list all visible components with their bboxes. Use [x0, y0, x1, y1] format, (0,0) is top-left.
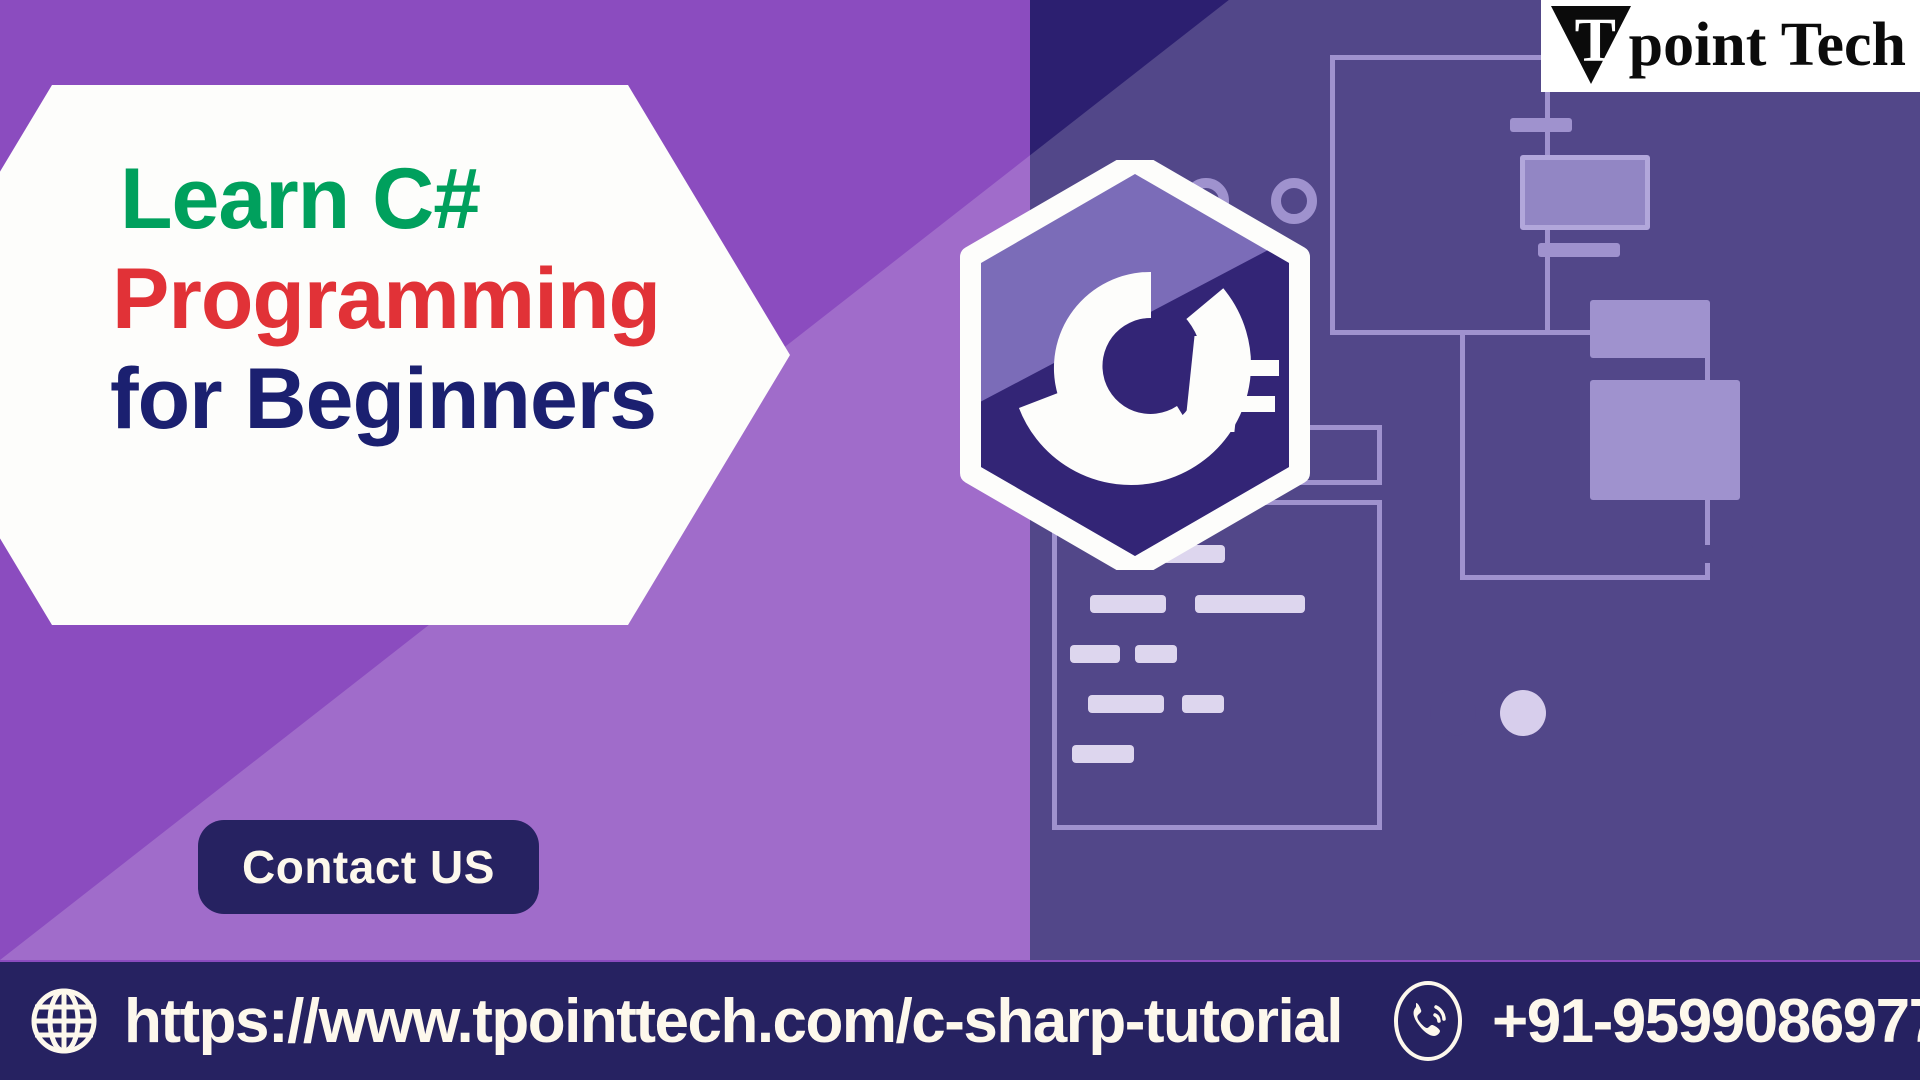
- indicator-dot-dark: [1430, 690, 1476, 736]
- contact-us-button[interactable]: Contact US: [198, 820, 539, 914]
- code-line-shape: [1195, 595, 1305, 613]
- headline-line-3: for Beginners: [110, 350, 800, 450]
- code-block-shape: [1538, 243, 1620, 257]
- code-block-shape: [1638, 545, 1753, 563]
- triangle-t-mark-icon: [1551, 6, 1631, 84]
- code-block-shape: [1590, 300, 1710, 358]
- code-block-shape: [1510, 118, 1572, 132]
- code-line-shape: [1072, 745, 1134, 763]
- promotional-banner: Learn C# Programming for Beginners Conta…: [0, 0, 1920, 1080]
- c-sharp-hexagon-logo: [955, 160, 1315, 570]
- code-line-shape: [1182, 695, 1224, 713]
- indicator-dot-light: [1500, 690, 1546, 736]
- headline-line-1: Learn C#: [120, 150, 800, 250]
- phone-icon: [1386, 979, 1470, 1063]
- website-url-link[interactable]: https://www.tpointtech.com/c-sharp-tutor…: [124, 986, 1342, 1057]
- code-line-shape: [1070, 645, 1120, 663]
- code-line-shape: [1088, 695, 1164, 713]
- code-line-shape: [1090, 595, 1166, 613]
- code-block-shape: [1520, 155, 1650, 230]
- code-block-shape: [1590, 380, 1740, 500]
- footer-contact-bar: https://www.tpointtech.com/c-sharp-tutor…: [0, 962, 1920, 1080]
- headline-line-2: Programming: [112, 250, 800, 350]
- logo-wordmark: point Tech: [1629, 10, 1906, 81]
- code-frame-outline: [1330, 55, 1550, 335]
- tpoint-tech-logo[interactable]: point Tech: [1541, 0, 1920, 92]
- phone-number[interactable]: +91-9599086977: [1492, 986, 1920, 1057]
- globe-icon: [26, 983, 102, 1059]
- code-line-shape: [1135, 645, 1177, 663]
- headline-group: Learn C# Programming for Beginners: [120, 150, 800, 449]
